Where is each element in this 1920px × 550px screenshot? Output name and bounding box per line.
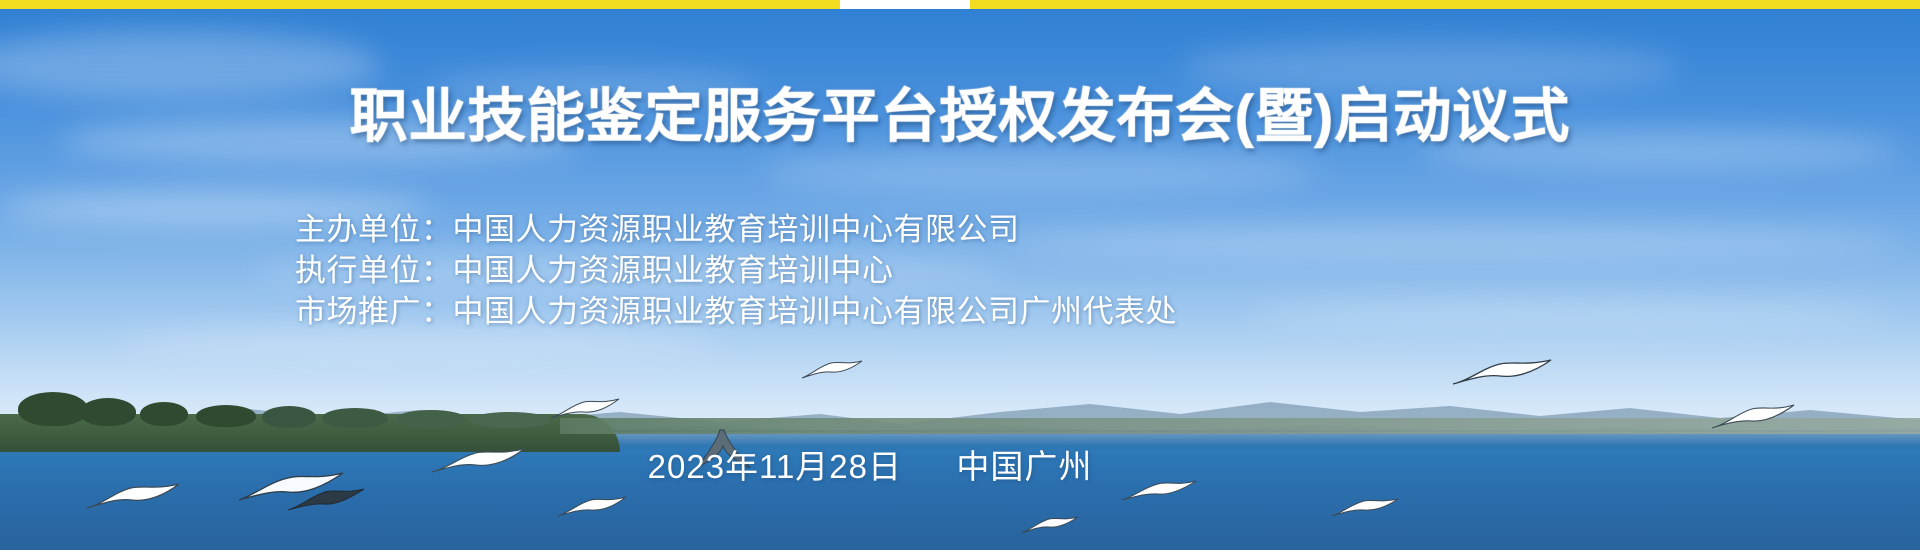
organizer-line-marketing: 市场推广：中国人力资源职业教育培训中心有限公司广州代表处 bbox=[295, 292, 1695, 333]
event-datetime-location: 2023年11月28日 中国广州 bbox=[0, 440, 1920, 488]
event-banner: 职业技能鉴定服务平台授权发布会(暨)启动议式 主办单位：中国人力资源职业教育培训… bbox=[0, 0, 1920, 550]
accent-bar-left-segment bbox=[0, 0, 840, 9]
accent-bar-right-segment bbox=[970, 0, 1920, 9]
top-accent-bar bbox=[0, 0, 1920, 9]
organizer-line-host: 主办单位：中国人力资源职业教育培训中心有限公司 bbox=[295, 210, 1695, 251]
organizer-line-executor: 执行单位：中国人力资源职业教育培训中心 bbox=[295, 251, 1695, 292]
organizer-list: 主办单位：中国人力资源职业教育培训中心有限公司 执行单位：中国人力资源职业教育培… bbox=[295, 210, 1695, 333]
page-title: 职业技能鉴定服务平台授权发布会(暨)启动议式 bbox=[0, 88, 1920, 146]
banner-text-content: 职业技能鉴定服务平台授权发布会(暨)启动议式 主办单位：中国人力资源职业教育培训… bbox=[0, 0, 1920, 550]
event-date: 2023年11月28日 bbox=[648, 448, 902, 485]
event-location: 中国广州 bbox=[956, 448, 1092, 485]
accent-bar-white-gap bbox=[840, 0, 970, 9]
